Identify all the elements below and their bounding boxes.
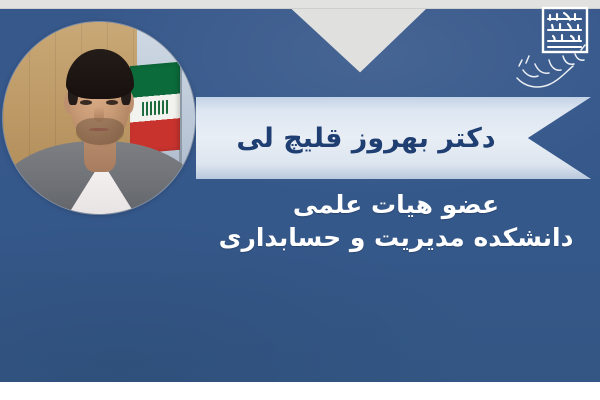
profile-card: دکتر بهروز قلیچ لی عضو هیات علمی دانشکده… xyxy=(0,0,600,400)
top-edge-divider xyxy=(0,8,600,9)
person-name: دکتر بهروز قلیچ لی xyxy=(196,97,536,179)
eye-right xyxy=(106,100,118,105)
subtitle-block: عضو هیات علمی دانشکده مدیریت و حسابداری xyxy=(200,188,592,254)
eye-left xyxy=(80,100,92,105)
beard-shadow xyxy=(76,118,124,145)
iran-flag-icon xyxy=(130,62,180,155)
flag-kufic-band xyxy=(142,100,168,116)
shahid-beheshti-university-logo[interactable] xyxy=(513,6,589,98)
logo-calligraphy xyxy=(548,13,581,47)
logo-artwork xyxy=(513,6,589,98)
subtitle-role: عضو هیات علمی xyxy=(200,188,592,221)
portrait-scene xyxy=(3,22,195,214)
avatar xyxy=(3,22,195,214)
nose xyxy=(94,106,104,121)
subtitle-faculty: دانشکده مدیریت و حسابداری xyxy=(200,221,592,254)
